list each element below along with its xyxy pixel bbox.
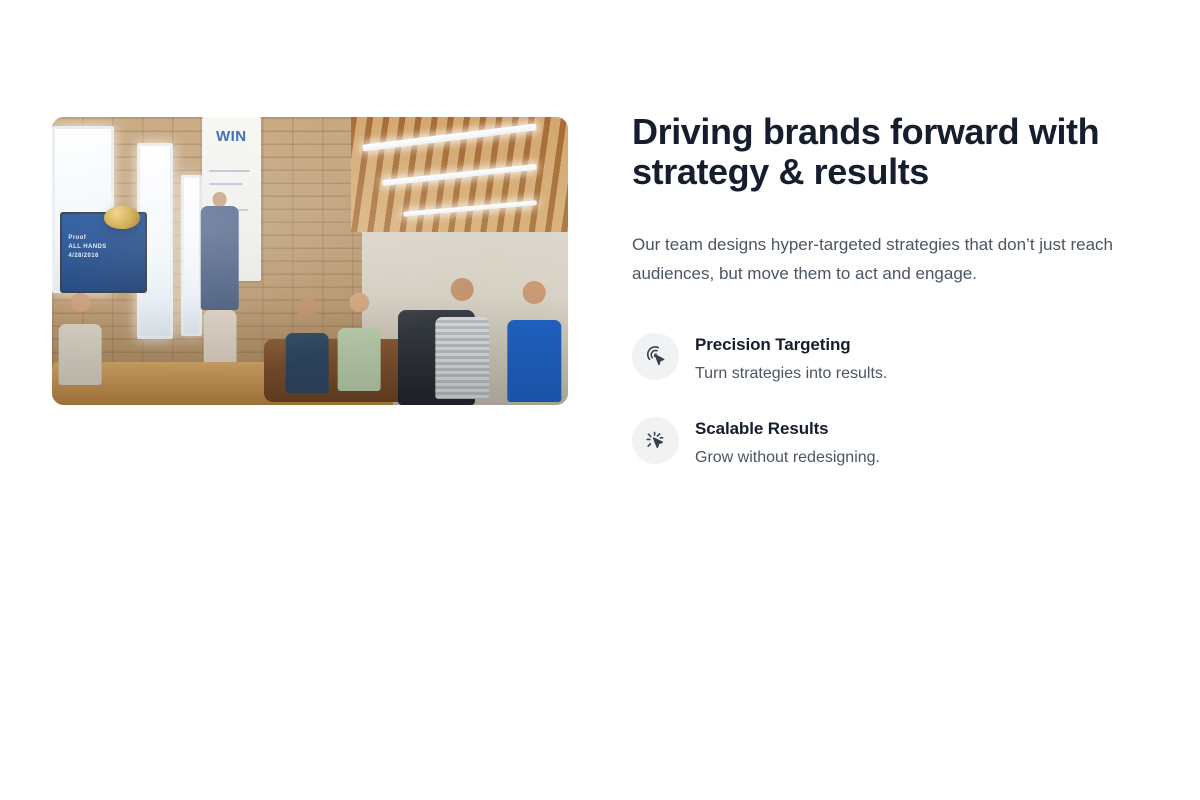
media-column: WIN Proof ALL HANDS 4/28/2016: [52, 117, 568, 405]
office-photo-scene: WIN Proof ALL HANDS 4/28/2016: [52, 117, 568, 405]
photo-lighting-overlay: [52, 117, 568, 405]
feature-title: Precision Targeting: [695, 334, 887, 356]
cursor-click-icon: [632, 333, 679, 380]
content-column: Driving brands forward with strategy & r…: [632, 112, 1152, 468]
feature-list: Precision Targeting Turn strategies into…: [632, 332, 1152, 468]
feature-title: Scalable Results: [695, 418, 880, 440]
feature-item-precision-targeting: Precision Targeting Turn strategies into…: [632, 332, 1152, 384]
section-subcopy: Our team designs hyper-targeted strategi…: [632, 230, 1148, 288]
feature-section: WIN Proof ALL HANDS 4/28/2016: [0, 0, 1200, 800]
feature-text: Scalable Results Grow without redesignin…: [695, 416, 880, 468]
feature-description: Turn strategies into results.: [695, 363, 887, 384]
cursor-sparkle-icon: [632, 417, 679, 464]
section-headline: Driving brands forward with strategy & r…: [632, 112, 1112, 192]
office-photo: WIN Proof ALL HANDS 4/28/2016: [52, 117, 568, 405]
feature-description: Grow without redesigning.: [695, 447, 880, 468]
feature-item-scalable-results: Scalable Results Grow without redesignin…: [632, 416, 1152, 468]
feature-text: Precision Targeting Turn strategies into…: [695, 332, 887, 384]
